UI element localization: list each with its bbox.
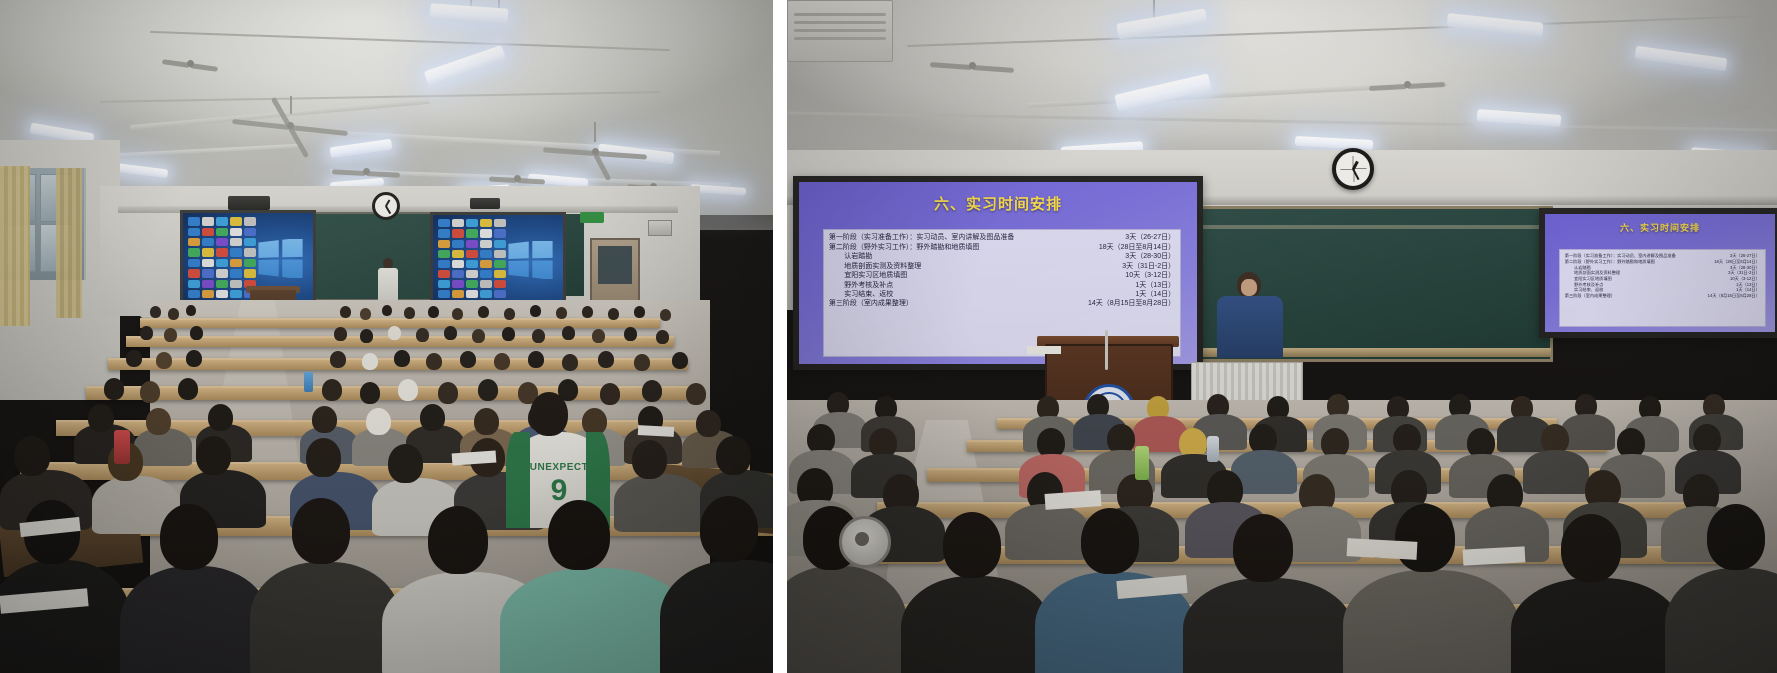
presenter-right — [1217, 272, 1283, 358]
light-hanger — [1153, 0, 1155, 18]
slide-row-text: 地质剖面实测及资料整理 — [829, 262, 921, 271]
ceiling-fan — [927, 56, 1017, 74]
water-bottle — [304, 372, 313, 392]
display-right[interactable] — [430, 212, 566, 304]
slide-secondary: 六、实习时间安排 第一阶段（实习准备工作）：实习动员、室内讲解及图品准备3天（2… — [1545, 214, 1775, 332]
photo-divider — [773, 0, 787, 673]
slide-row-duration: 10天（3-12日） — [1125, 271, 1175, 280]
slide-title: 六、实习时间安排 — [799, 193, 1197, 214]
slide-row-text: 第三阶段（室内成果整理） — [829, 299, 913, 308]
slide-row: 地质剖面实测及资料整理3天（31日-2日） — [829, 262, 1175, 271]
classroom-front-view-right: 六、实习时间安排 第一阶段（实习准备工作）：实习动员、室内讲解及图品准备3天（2… — [787, 0, 1777, 673]
window-curtain — [0, 166, 30, 326]
notebook — [1463, 546, 1526, 565]
presenter-left — [378, 258, 398, 304]
ceiling-fan — [1367, 76, 1447, 92]
jersey-text: UNEXPECT — [522, 462, 596, 473]
slide-panel-secondary: 第一阶段（实习准备工作）：实习动员、室内讲解及图品准备3天（26-27日）第二阶… — [1559, 249, 1766, 327]
ceiling-fan — [160, 56, 220, 70]
slide-row-duration: 18天（28日至8月14日） — [1099, 243, 1175, 252]
desk-fan-hub — [855, 532, 869, 546]
slide-row-text: 认岩踏勘 — [829, 252, 872, 261]
water-bottle — [1207, 436, 1219, 462]
ceiling-fan — [230, 112, 350, 138]
slide-row-duration: 3天（31日-2日） — [1122, 262, 1175, 271]
slide-row-text: 实习结束、返校 — [829, 290, 893, 299]
notebook — [1347, 538, 1418, 560]
screenshot-root: UNEXPECT 9 — [0, 0, 1777, 673]
air-conditioner-ceiling — [787, 0, 893, 62]
slide-row: 第二阶段（野外实习工作）：野外踏勘和地质填图18天（28日至8月14日） — [829, 243, 1175, 252]
notebook — [638, 425, 674, 437]
slide-row: 第三阶段（室内成果整理）14天（8月15日至8月28日） — [829, 299, 1175, 308]
projector-right — [470, 198, 500, 209]
slide-row-duration: 14天（8月15日至8月28日） — [1708, 293, 1760, 299]
exit-sign — [580, 212, 604, 223]
slide-row: 宜阳实习区地质填图10天（3-12日） — [829, 271, 1175, 280]
slide-row-text: 第二阶段（野外实习工作）：野外踏勘和地质填图 — [829, 243, 980, 252]
wall-panel — [648, 220, 672, 236]
slide-title-secondary: 六、实习时间安排 — [1545, 221, 1775, 234]
fan-rod — [290, 96, 292, 114]
slide-row: 实习结束、返校1天（14日） — [829, 290, 1175, 299]
classroom-wide-view-left: UNEXPECT 9 — [0, 0, 773, 673]
window-curtain — [56, 168, 82, 318]
slide-row-duration: 1天（13日） — [1135, 281, 1175, 290]
slide-row-duration: 3天（26-27日） — [1125, 233, 1175, 242]
slide-row-text: 第一阶段（实习准备工作）：实习动员、室内讲解及图品准备 — [829, 233, 1015, 242]
projector-left — [228, 196, 270, 210]
slide-row-text: 宜阳实习区地质填图 — [829, 271, 907, 280]
slide-row-text: 第三阶段（室内成果整理） — [1565, 293, 1615, 299]
water-bottle — [1135, 446, 1149, 480]
slide-row: 认岩踏勘3天（28-30日） — [829, 252, 1175, 261]
wall-clock-left — [372, 192, 400, 220]
slide-row: 第一阶段（实习准备工作）：实习动员、室内讲解及图品准备3天（26-27日） — [829, 233, 1175, 242]
water-bottle — [114, 430, 130, 464]
slide-row-text: 野外考核及补点 — [829, 281, 893, 290]
slide-row: 野外考核及补点1天（13日） — [829, 281, 1175, 290]
cable-hanging — [1105, 330, 1108, 370]
projection-screen-secondary[interactable]: 六、实习时间安排 第一阶段（实习准备工作）：实习动员、室内讲解及图品准备3天（2… — [1539, 208, 1777, 338]
paper-stack — [1027, 346, 1061, 354]
slide-row-duration: 1天（14日） — [1135, 290, 1175, 299]
wall-clock-right — [1332, 148, 1374, 190]
fan-rod — [594, 122, 596, 142]
desktop-icon-grid[interactable] — [438, 219, 506, 298]
slide-row: 第三阶段（室内成果整理）14天（8月15日至8月28日） — [1565, 293, 1760, 299]
ceiling-fan — [540, 140, 650, 162]
ceiling-fan — [486, 172, 548, 184]
desk-row — [140, 318, 660, 328]
slide-row-duration: 3天（28-30日） — [1125, 252, 1175, 261]
ceiling-fan — [330, 164, 402, 178]
slide-row-duration: 14天（8月15日至8月28日） — [1088, 299, 1175, 308]
